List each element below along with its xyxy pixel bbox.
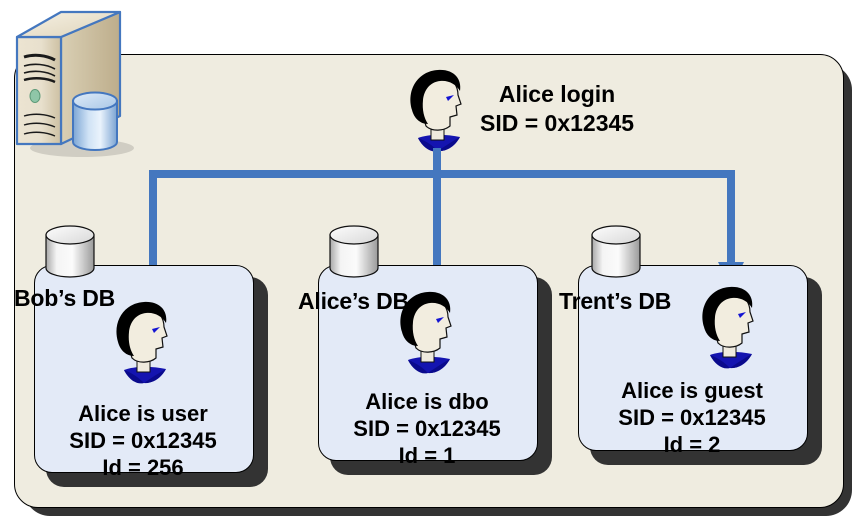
db-text-trents-line1: Alice is guest (578, 377, 806, 404)
connector-branch-right (727, 170, 735, 264)
db-text-trents: Alice is guest SID = 0x12345 Id = 2 (578, 377, 806, 458)
avatar-db-2 (388, 290, 466, 382)
avatar-alice-login (398, 68, 476, 160)
db-text-alices: Alice is dbo SID = 0x12345 Id = 1 (318, 388, 536, 469)
db-text-alices-line1: Alice is dbo (318, 388, 536, 415)
database-cylinder-icon (73, 93, 117, 151)
db-text-trents-line3: Id = 2 (578, 431, 806, 458)
server-tower-icon (4, 4, 144, 164)
login-label-line1: Alice login (480, 80, 634, 109)
avatar-db-1 (104, 300, 182, 392)
database-cylinder-icon-2 (326, 222, 382, 284)
db-text-bobs-line2: SID = 0x12345 (34, 427, 252, 454)
db-label-trents: Trent’s DB (559, 288, 671, 315)
connector-branch-center (433, 170, 441, 274)
db-label-bobs: Bob’s DB (14, 285, 115, 312)
database-cylinder-icon-1 (42, 222, 98, 284)
db-text-alices-line3: Id = 1 (318, 442, 536, 469)
db-text-bobs-line1: Alice is user (34, 400, 252, 427)
db-text-bobs: Alice is user SID = 0x12345 Id = 256 (34, 400, 252, 481)
login-label-line2: SID = 0x12345 (480, 109, 634, 138)
database-cylinder-icon-3 (588, 222, 644, 284)
db-text-bobs-line3: Id = 256 (34, 454, 252, 481)
diagram-canvas: Alice login SID = 0x12345 (0, 0, 864, 529)
avatar-db-3 (690, 285, 768, 377)
connector-horizontal-bus (149, 170, 734, 178)
db-text-trents-line2: SID = 0x12345 (578, 404, 806, 431)
db-text-alices-line2: SID = 0x12345 (318, 415, 536, 442)
login-label: Alice login SID = 0x12345 (480, 80, 634, 138)
